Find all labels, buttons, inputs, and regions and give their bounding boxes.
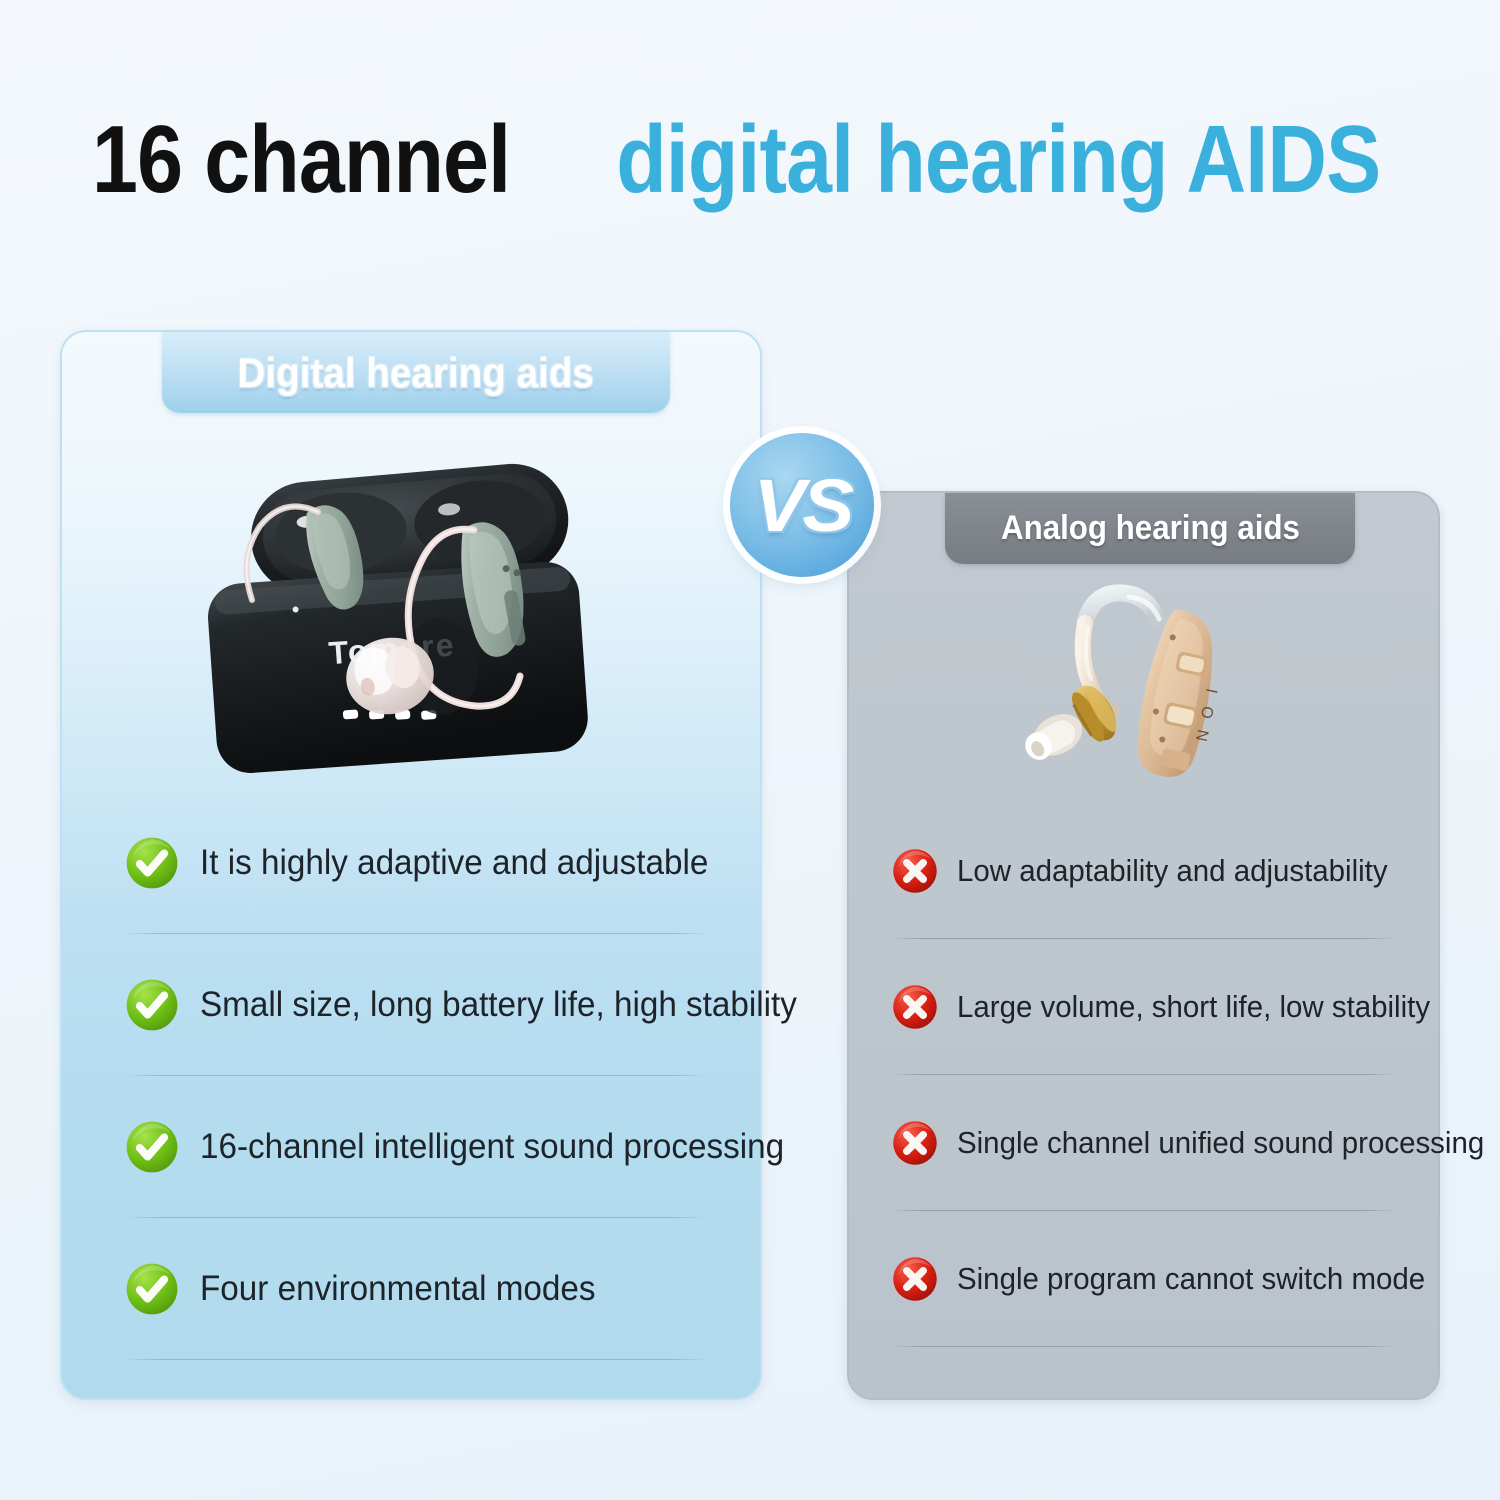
- list-divider: [891, 1346, 1396, 1347]
- analog-hearing-aids-panel: Analog hearing aids: [847, 491, 1440, 1400]
- page-title: 16 channeldigital hearing AIDS: [0, 105, 1500, 215]
- list-item: Single channel unified sound processing: [849, 1075, 1438, 1211]
- digital-panel-header: Digital hearing aids: [162, 332, 670, 413]
- x-circle-icon: [891, 847, 939, 895]
- list-divider: [124, 1359, 708, 1360]
- list-item: Large volume, short life, low stability: [849, 939, 1438, 1075]
- list-item: Four environmental modes: [62, 1218, 760, 1360]
- list-item-label: It is highly adaptive and adjustable: [200, 843, 708, 883]
- list-item: Single program cannot switch mode: [849, 1211, 1438, 1347]
- list-item-label: Small size, long battery life, high stab…: [200, 985, 797, 1025]
- digital-feature-list: It is highly adaptive and adjustable Sma…: [62, 792, 760, 1360]
- x-circle-icon: [891, 1119, 939, 1167]
- page-title-primary: 16 channel: [92, 105, 510, 215]
- list-item-label: Four environmental modes: [200, 1269, 595, 1309]
- list-item-label: Large volume, short life, low stability: [957, 989, 1430, 1025]
- digital-hearing-aids-panel: Digital hearing aids: [60, 330, 762, 1400]
- list-item: Low adaptability and adjustability: [849, 803, 1438, 939]
- page-title-accent: digital hearing AIDS: [616, 105, 1380, 215]
- vs-badge: VS: [730, 433, 874, 577]
- vs-badge-label: VS: [753, 463, 850, 548]
- digital-product-illustration: Tomore: [190, 454, 630, 784]
- digital-panel-header-label: Digital hearing aids: [238, 349, 594, 397]
- list-item-label: 16-channel intelligent sound processing: [200, 1127, 784, 1167]
- digital-product-image: Tomore: [190, 454, 630, 784]
- check-circle-icon: [124, 977, 180, 1033]
- list-item: 16-channel intelligent sound processing: [62, 1076, 760, 1218]
- analog-product-illustration: I O N: [1009, 565, 1289, 805]
- x-circle-icon: [891, 1255, 939, 1303]
- list-item-label: Single channel unified sound processing: [957, 1125, 1484, 1161]
- list-item-label: Single program cannot switch mode: [957, 1261, 1425, 1297]
- x-circle-icon: [891, 983, 939, 1031]
- check-circle-icon: [124, 1261, 180, 1317]
- list-item: It is highly adaptive and adjustable: [62, 792, 760, 934]
- analog-feature-list: Low adaptability and adjustability Large…: [849, 803, 1438, 1347]
- check-circle-icon: [124, 1119, 180, 1175]
- analog-panel-header: Analog hearing aids: [945, 493, 1355, 564]
- analog-product-image: I O N: [1009, 565, 1289, 805]
- list-item-label: Low adaptability and adjustability: [957, 853, 1388, 889]
- analog-panel-header-label: Analog hearing aids: [1001, 509, 1300, 548]
- check-circle-icon: [124, 835, 180, 891]
- list-item: Small size, long battery life, high stab…: [62, 934, 760, 1076]
